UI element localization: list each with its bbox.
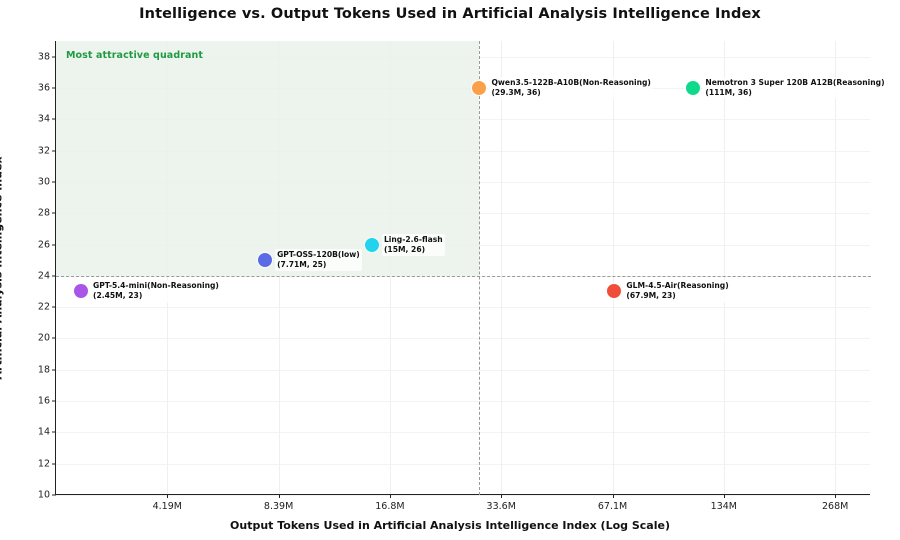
x-tick-label: 16.8M [375, 501, 404, 512]
y-tick-label: 18 [38, 364, 50, 375]
y-tick-label: 32 [38, 145, 50, 156]
data-point-label-5: GLM-4.5-Air(Reasoning)(67.9M, 23) [624, 280, 730, 302]
quadrant-label: Most attractive quadrant [66, 50, 203, 61]
y-tick-label: 10 [38, 490, 50, 501]
y-tick-label: 30 [38, 176, 50, 187]
y-axis-label: Artificial Analysis Intelligence Index [0, 156, 5, 379]
gridline-vertical [835, 41, 836, 494]
x-tick-mark [390, 494, 391, 498]
x-tick-mark [613, 494, 614, 498]
x-tick-mark [501, 494, 502, 498]
threshold-line-vertical [479, 41, 480, 495]
data-point-name: Nemotron 3 Super 120B A12B(Reasoning) [705, 78, 884, 88]
data-point-values: (67.9M, 23) [626, 291, 728, 301]
y-tick-mark [52, 401, 56, 402]
y-tick-mark [52, 432, 56, 433]
data-point-values: (2.45M, 23) [93, 291, 219, 301]
scatter-chart: Intelligence vs. Output Tokens Used in A… [0, 0, 900, 540]
plot-area: Most attractive quadrant1012141618202224… [55, 41, 870, 495]
y-tick-mark [52, 181, 56, 182]
gridline-vertical [724, 41, 725, 494]
x-tick-label: 33.6M [487, 501, 516, 512]
gridline-vertical [501, 41, 502, 494]
y-tick-mark [52, 244, 56, 245]
data-point-values: (15M, 26) [384, 245, 443, 255]
data-point-6[interactable] [686, 81, 700, 95]
y-tick-label: 14 [38, 427, 50, 438]
threshold-line-horizontal [56, 276, 871, 277]
data-point-1[interactable] [74, 284, 88, 298]
y-tick-mark [52, 275, 56, 276]
gridline-horizontal [56, 464, 870, 465]
x-tick-label: 67.1M [598, 501, 627, 512]
data-point-name: GLM-4.5-Air(Reasoning) [626, 281, 728, 291]
x-axis-label: Output Tokens Used in Artificial Analysi… [0, 519, 900, 532]
y-tick-mark [52, 87, 56, 88]
gridline-horizontal [56, 370, 870, 371]
x-tick-mark [835, 494, 836, 498]
data-point-label-6: Nemotron 3 Super 120B A12B(Reasoning)(11… [703, 77, 886, 99]
data-point-name: Qwen3.5-122B-A10B(Non-Reasoning) [491, 78, 650, 88]
y-tick-label: 24 [38, 270, 50, 281]
x-tick-label: 134M [711, 501, 737, 512]
gridline-horizontal [56, 338, 870, 339]
gridline-horizontal [56, 401, 870, 402]
x-tick-mark [724, 494, 725, 498]
y-tick-label: 36 [38, 82, 50, 93]
y-tick-mark [52, 338, 56, 339]
data-point-label-4: Qwen3.5-122B-A10B(Non-Reasoning)(29.3M, … [489, 77, 652, 99]
data-point-values: (29.3M, 36) [491, 88, 650, 98]
y-tick-mark [52, 56, 56, 57]
data-point-label-1: GPT-5.4-mini(Non-Reasoning)(2.45M, 23) [91, 280, 221, 302]
data-point-values: (7.71M, 25) [277, 260, 360, 270]
x-tick-mark [167, 494, 168, 498]
y-tick-label: 28 [38, 208, 50, 219]
gridline-horizontal [56, 432, 870, 433]
x-tick-label: 4.19M [153, 501, 182, 512]
y-tick-mark [52, 369, 56, 370]
gridline-horizontal [56, 495, 870, 496]
gridline-horizontal [56, 307, 870, 308]
y-tick-label: 38 [38, 51, 50, 62]
plot-content: Most attractive quadrant1012141618202224… [56, 41, 870, 494]
y-tick-mark [52, 150, 56, 151]
data-point-label-2: GPT-OSS-120B(low)(7.71M, 25) [275, 249, 362, 271]
data-point-3[interactable] [365, 238, 379, 252]
y-tick-label: 12 [38, 458, 50, 469]
x-tick-label: 268M [822, 501, 848, 512]
data-point-name: Ling-2.6-flash [384, 235, 443, 245]
y-tick-label: 22 [38, 302, 50, 313]
y-tick-label: 34 [38, 114, 50, 125]
data-point-label-3: Ling-2.6-flash(15M, 26) [382, 234, 445, 256]
data-point-2[interactable] [258, 253, 272, 267]
y-tick-label: 26 [38, 239, 50, 250]
y-tick-mark [52, 119, 56, 120]
x-tick-mark [279, 494, 280, 498]
y-tick-label: 20 [38, 333, 50, 344]
y-tick-label: 16 [38, 396, 50, 407]
chart-title: Intelligence vs. Output Tokens Used in A… [0, 6, 900, 22]
y-tick-mark [52, 463, 56, 464]
data-point-name: GPT-5.4-mini(Non-Reasoning) [93, 281, 219, 291]
data-point-4[interactable] [472, 81, 486, 95]
gridline-vertical [613, 41, 614, 494]
data-point-name: GPT-OSS-120B(low) [277, 250, 360, 260]
x-tick-label: 8.39M [264, 501, 293, 512]
data-point-5[interactable] [607, 284, 621, 298]
y-tick-mark [52, 213, 56, 214]
y-tick-mark [52, 495, 56, 496]
y-tick-mark [52, 307, 56, 308]
data-point-values: (111M, 36) [705, 88, 884, 98]
